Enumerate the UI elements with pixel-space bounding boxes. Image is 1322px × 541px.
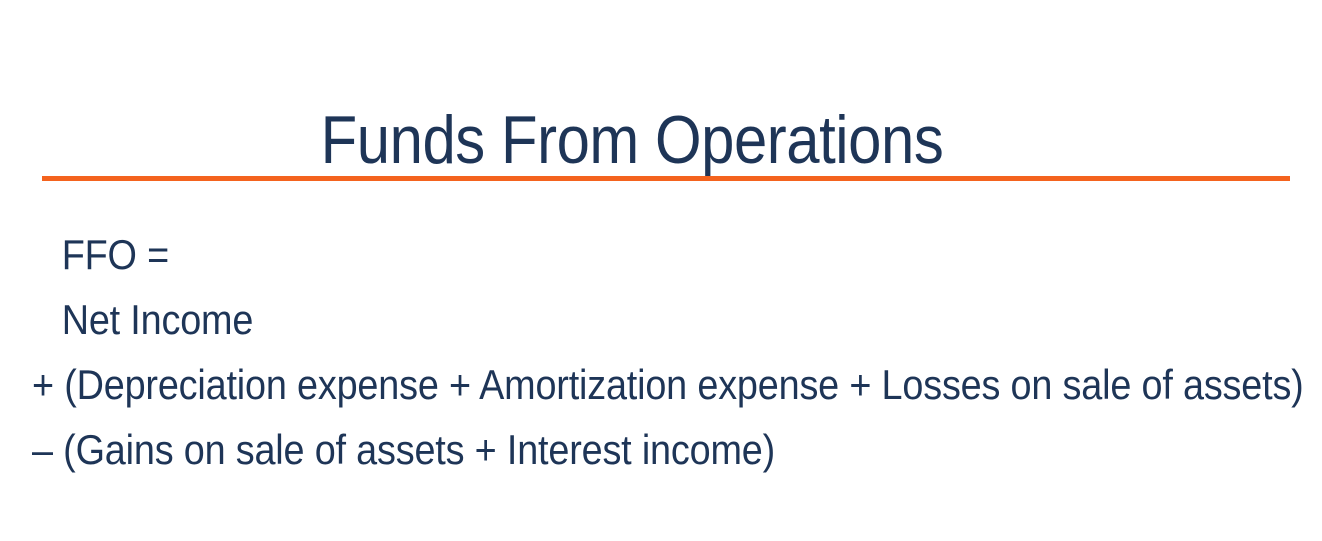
formula-line: – (Gains on sale of assets + Interest in… (32, 417, 1166, 482)
formula-line: Net Income (32, 287, 1166, 352)
formula-line: + (Depreciation expense + Amortization e… (32, 352, 1166, 417)
formula-body: FFO = Net Income + (Depreciation expense… (32, 222, 1292, 482)
title-divider-rule (42, 176, 1290, 181)
page-title: Funds From Operations (113, 104, 1151, 176)
formula-line: FFO = (32, 222, 1166, 287)
slide: Funds From Operations FFO = Net Income +… (0, 0, 1322, 541)
